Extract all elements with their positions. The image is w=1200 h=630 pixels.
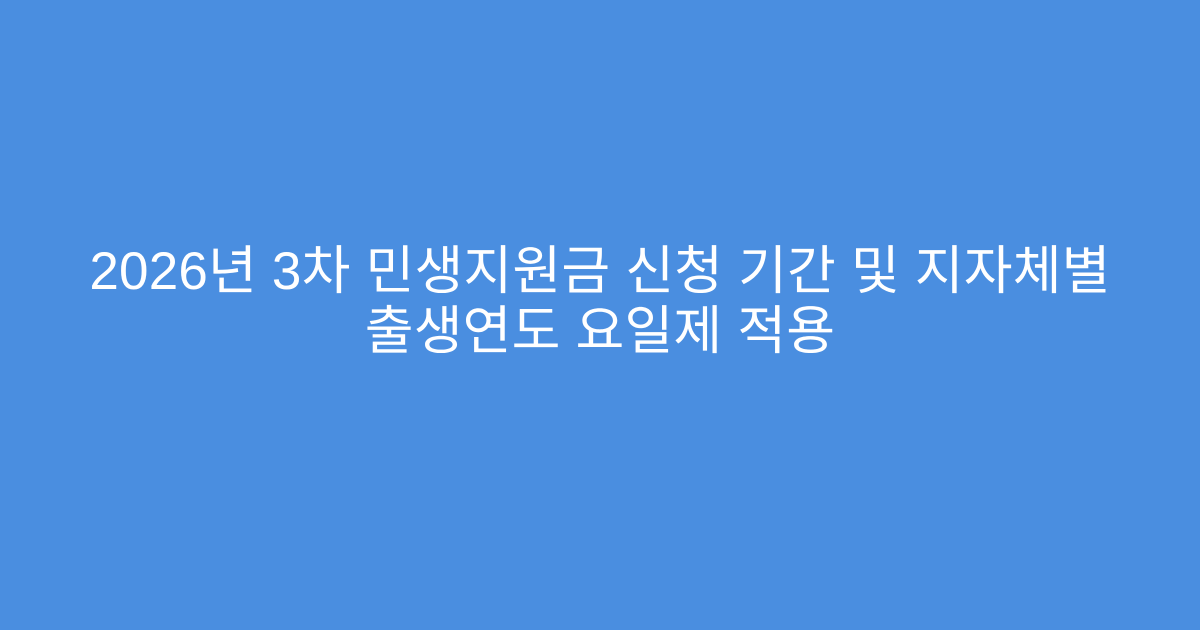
- banner-canvas: 2026년 3차 민생지원금 신청 기간 및 지자체별 출생연도 요일제 적용: [0, 0, 1200, 630]
- headline-line-1: 2026년 3차 민생지원금 신청 기간 및 지자체별: [50, 242, 1150, 302]
- headline-block: 2026년 3차 민생지원금 신청 기간 및 지자체별 출생연도 요일제 적용: [50, 242, 1150, 362]
- headline-line-2: 출생연도 요일제 적용: [50, 302, 1150, 362]
